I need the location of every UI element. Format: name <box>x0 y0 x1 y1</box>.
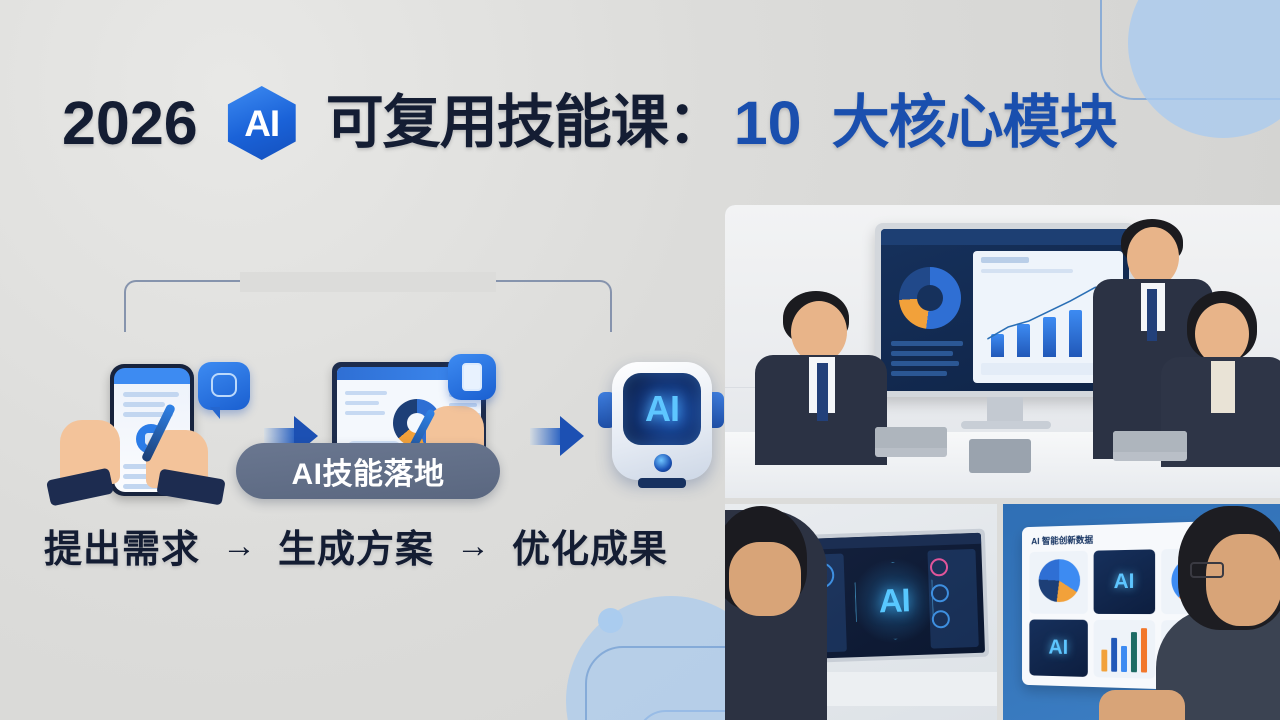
laptop-left <box>875 427 947 457</box>
robot-screen: AI <box>623 373 701 445</box>
flow-pill-badge: AI技能落地 <box>236 443 500 499</box>
circle-top-right-decoration <box>1128 0 1280 138</box>
left-sleeve <box>46 468 114 507</box>
chat-bubble-icon <box>198 362 250 410</box>
step-1-illustration <box>42 348 264 523</box>
robot-eye-icon <box>654 454 672 472</box>
whiteboard-title: AI 智能创新数据 <box>1031 533 1093 547</box>
robot-base <box>638 478 686 488</box>
whiteboard-charts-photo: AI 智能创新数据 AI AI <box>1003 504 1280 720</box>
photo-collage: AI AI 智能创新数据 <box>725 205 1280 720</box>
page-title: 2026 AI 可复用技能课： 10 大核心模块 <box>62 86 1117 160</box>
flow-bracket-connector <box>124 280 612 332</box>
collage-divider-vertical <box>997 504 1003 720</box>
ai-hologram: AI <box>850 556 939 645</box>
ai-robot-icon: AI <box>612 362 712 480</box>
glasses-icon <box>1190 562 1224 578</box>
title-year: 2026 <box>62 93 198 154</box>
title-main-dark: 可复用技能课： <box>326 94 725 152</box>
step-label-3: 优化成果 <box>512 518 668 573</box>
rounded-outline-top-right-decoration <box>1100 0 1280 100</box>
tile-ai-top-label: AI <box>1114 570 1135 594</box>
pie-chart-icon <box>1039 559 1080 602</box>
robot-screen-label: AI <box>645 388 679 430</box>
desk-stand <box>969 439 1031 473</box>
tile-ai-top: AI <box>1094 549 1155 614</box>
step-separator-1: → <box>222 529 256 563</box>
flow-pill-label: AI技能落地 <box>292 449 445 493</box>
tile-pie-chart <box>1029 551 1087 614</box>
flow-arrow-2-icon <box>530 416 586 456</box>
step-label-2: 生成方案 <box>278 518 434 573</box>
tile-ai-bottom: AI <box>1029 619 1087 676</box>
business-meeting-dashboard-photo <box>725 205 1280 498</box>
tablet-icon <box>448 354 496 400</box>
laptop-right <box>1113 431 1187 461</box>
person-hands <box>1099 690 1185 720</box>
step-label-1: 提出需求 <box>44 518 200 573</box>
right-sleeve <box>156 468 226 505</box>
tile-ai-bottom-label: AI <box>1048 636 1068 660</box>
step-separator-2: → <box>456 529 490 563</box>
poster-canvas: 2026 AI 可复用技能课： 10 大核心模块 AI技能落地 <box>0 0 1280 720</box>
title-main-blue: 大核心模块 <box>832 94 1117 152</box>
dashboard-donut-chart <box>899 267 961 329</box>
tile-bar-chart <box>1094 620 1155 679</box>
ai-skill-flow-diagram: AI技能落地 <box>0 200 712 620</box>
over-shoulder-ai-dashboard-photo: AI <box>725 504 997 720</box>
ai-badge-label: AI <box>244 105 279 142</box>
step-3-illustration: AI <box>586 348 736 523</box>
flow-step-labels: 提出需求 → 生成方案 → 优化成果 <box>0 518 712 573</box>
ai-hexagon-badge-icon: AI <box>228 86 296 160</box>
title-main-number: 10 <box>734 93 802 154</box>
viewer-shoulder <box>725 510 827 720</box>
